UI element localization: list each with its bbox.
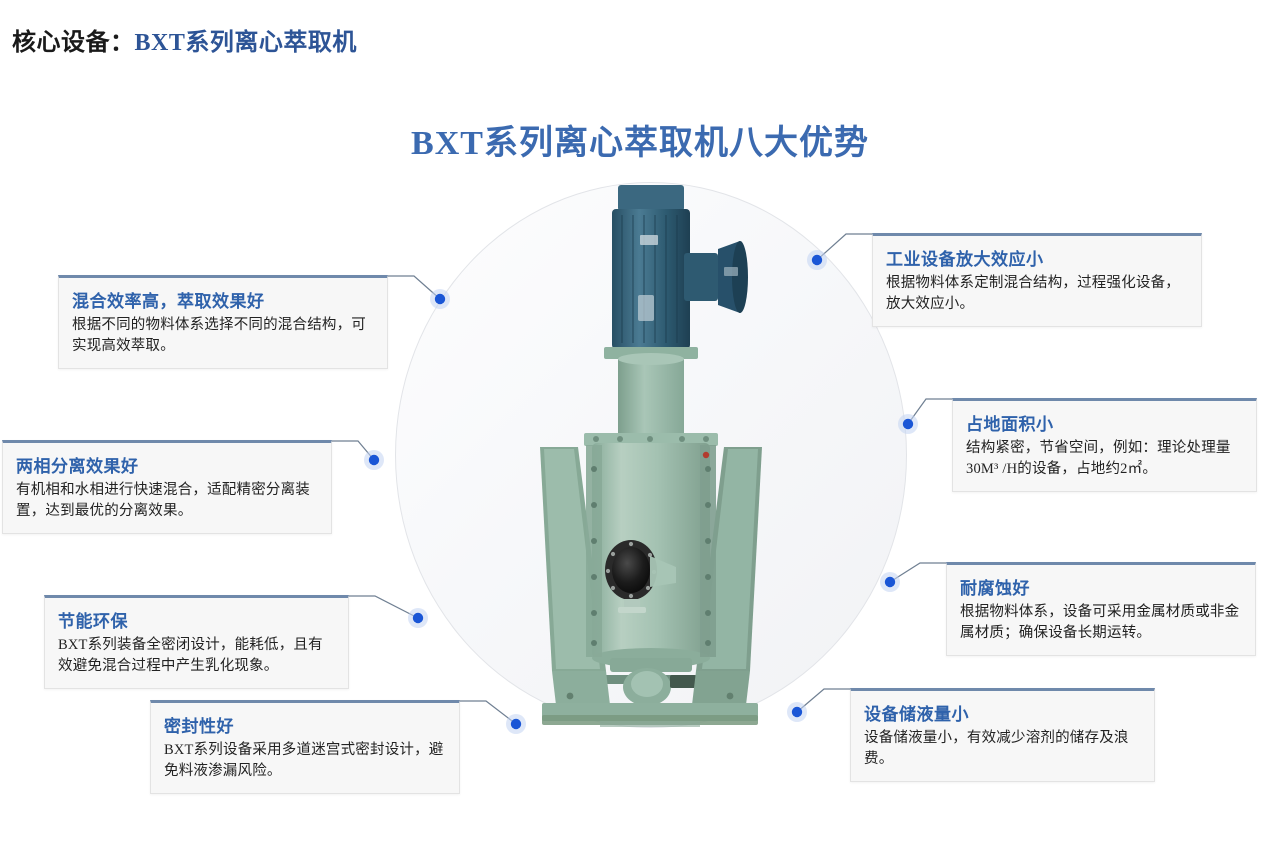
infographic-page: 核心设备：BXT系列离心萃取机 BXT系列离心萃取机八大优势 — [0, 0, 1280, 845]
connector-dot-mixing-efficiency[interactable] — [435, 294, 445, 304]
callout-title-two-phase-separation: 两相分离效果好 — [16, 452, 318, 477]
connector-dot-energy-saving[interactable] — [413, 613, 423, 623]
callout-card-footprint[interactable]: 占地面积小结构紧密，节省空间，例如：理论处理量30M³ /H的设备，占地约2㎡。 — [952, 398, 1257, 492]
extractor-machine-image — [500, 175, 800, 735]
callout-title-energy-saving: 节能环保 — [58, 607, 335, 632]
connector-dot-scale-up-effect[interactable] — [812, 255, 822, 265]
connector-dot-corrosion-resistance[interactable] — [885, 577, 895, 587]
connector-line-energy-saving — [349, 596, 418, 618]
callout-body-two-phase-separation: 有机相和水相进行快速混合，适配精密分离装置，达到最优的分离效果。 — [16, 480, 318, 522]
callout-body-sealing: BXT系列设备采用多道迷宫式密封设计，避免料液渗漏风险。 — [164, 740, 446, 782]
callout-title-low-holdup: 设备储液量小 — [864, 700, 1141, 725]
callout-title-scale-up-effect: 工业设备放大效应小 — [886, 245, 1188, 270]
callout-body-footprint: 结构紧密，节省空间，例如：理论处理量30M³ /H的设备，占地约2㎡。 — [966, 438, 1243, 480]
connector-dot-footprint[interactable] — [903, 419, 913, 429]
callout-title-sealing: 密封性好 — [164, 712, 446, 737]
callout-body-mixing-efficiency: 根据不同的物料体系选择不同的混合结构，可实现高效萃取。 — [72, 315, 374, 357]
callout-body-scale-up-effect: 根据物料体系定制混合结构，过程强化设备，放大效应小。 — [886, 273, 1188, 315]
callout-card-energy-saving[interactable]: 节能环保BXT系列装备全密闭设计，能耗低，且有效避免混合过程中产生乳化现象。 — [44, 595, 349, 689]
callout-card-low-holdup[interactable]: 设备储液量小设备储液量小，有效减少溶剂的储存及浪费。 — [850, 688, 1155, 782]
callout-card-mixing-efficiency[interactable]: 混合效率高，萃取效果好根据不同的物料体系选择不同的混合结构，可实现高效萃取。 — [58, 275, 388, 369]
callout-card-two-phase-separation[interactable]: 两相分离效果好有机相和水相进行快速混合，适配精密分离装置，达到最优的分离效果。 — [2, 440, 332, 534]
callout-body-energy-saving: BXT系列装备全密闭设计，能耗低，且有效避免混合过程中产生乳化现象。 — [58, 635, 335, 677]
callout-card-scale-up-effect[interactable]: 工业设备放大效应小根据物料体系定制混合结构，过程强化设备，放大效应小。 — [872, 233, 1202, 327]
connector-dot-two-phase-separation[interactable] — [369, 455, 379, 465]
callout-card-sealing[interactable]: 密封性好BXT系列设备采用多道迷宫式密封设计，避免料液渗漏风险。 — [150, 700, 460, 794]
callout-body-corrosion-resistance: 根据物料体系，设备可采用金属材质或非金属材质；确保设备长期运转。 — [960, 602, 1242, 644]
callout-title-corrosion-resistance: 耐腐蚀好 — [960, 574, 1242, 599]
callout-body-low-holdup: 设备储液量小，有效减少溶剂的储存及浪费。 — [864, 728, 1141, 770]
callout-title-mixing-efficiency: 混合效率高，萃取效果好 — [72, 287, 374, 312]
callout-card-corrosion-resistance[interactable]: 耐腐蚀好根据物料体系，设备可采用金属材质或非金属材质；确保设备长期运转。 — [946, 562, 1256, 656]
callout-title-footprint: 占地面积小 — [966, 410, 1243, 435]
